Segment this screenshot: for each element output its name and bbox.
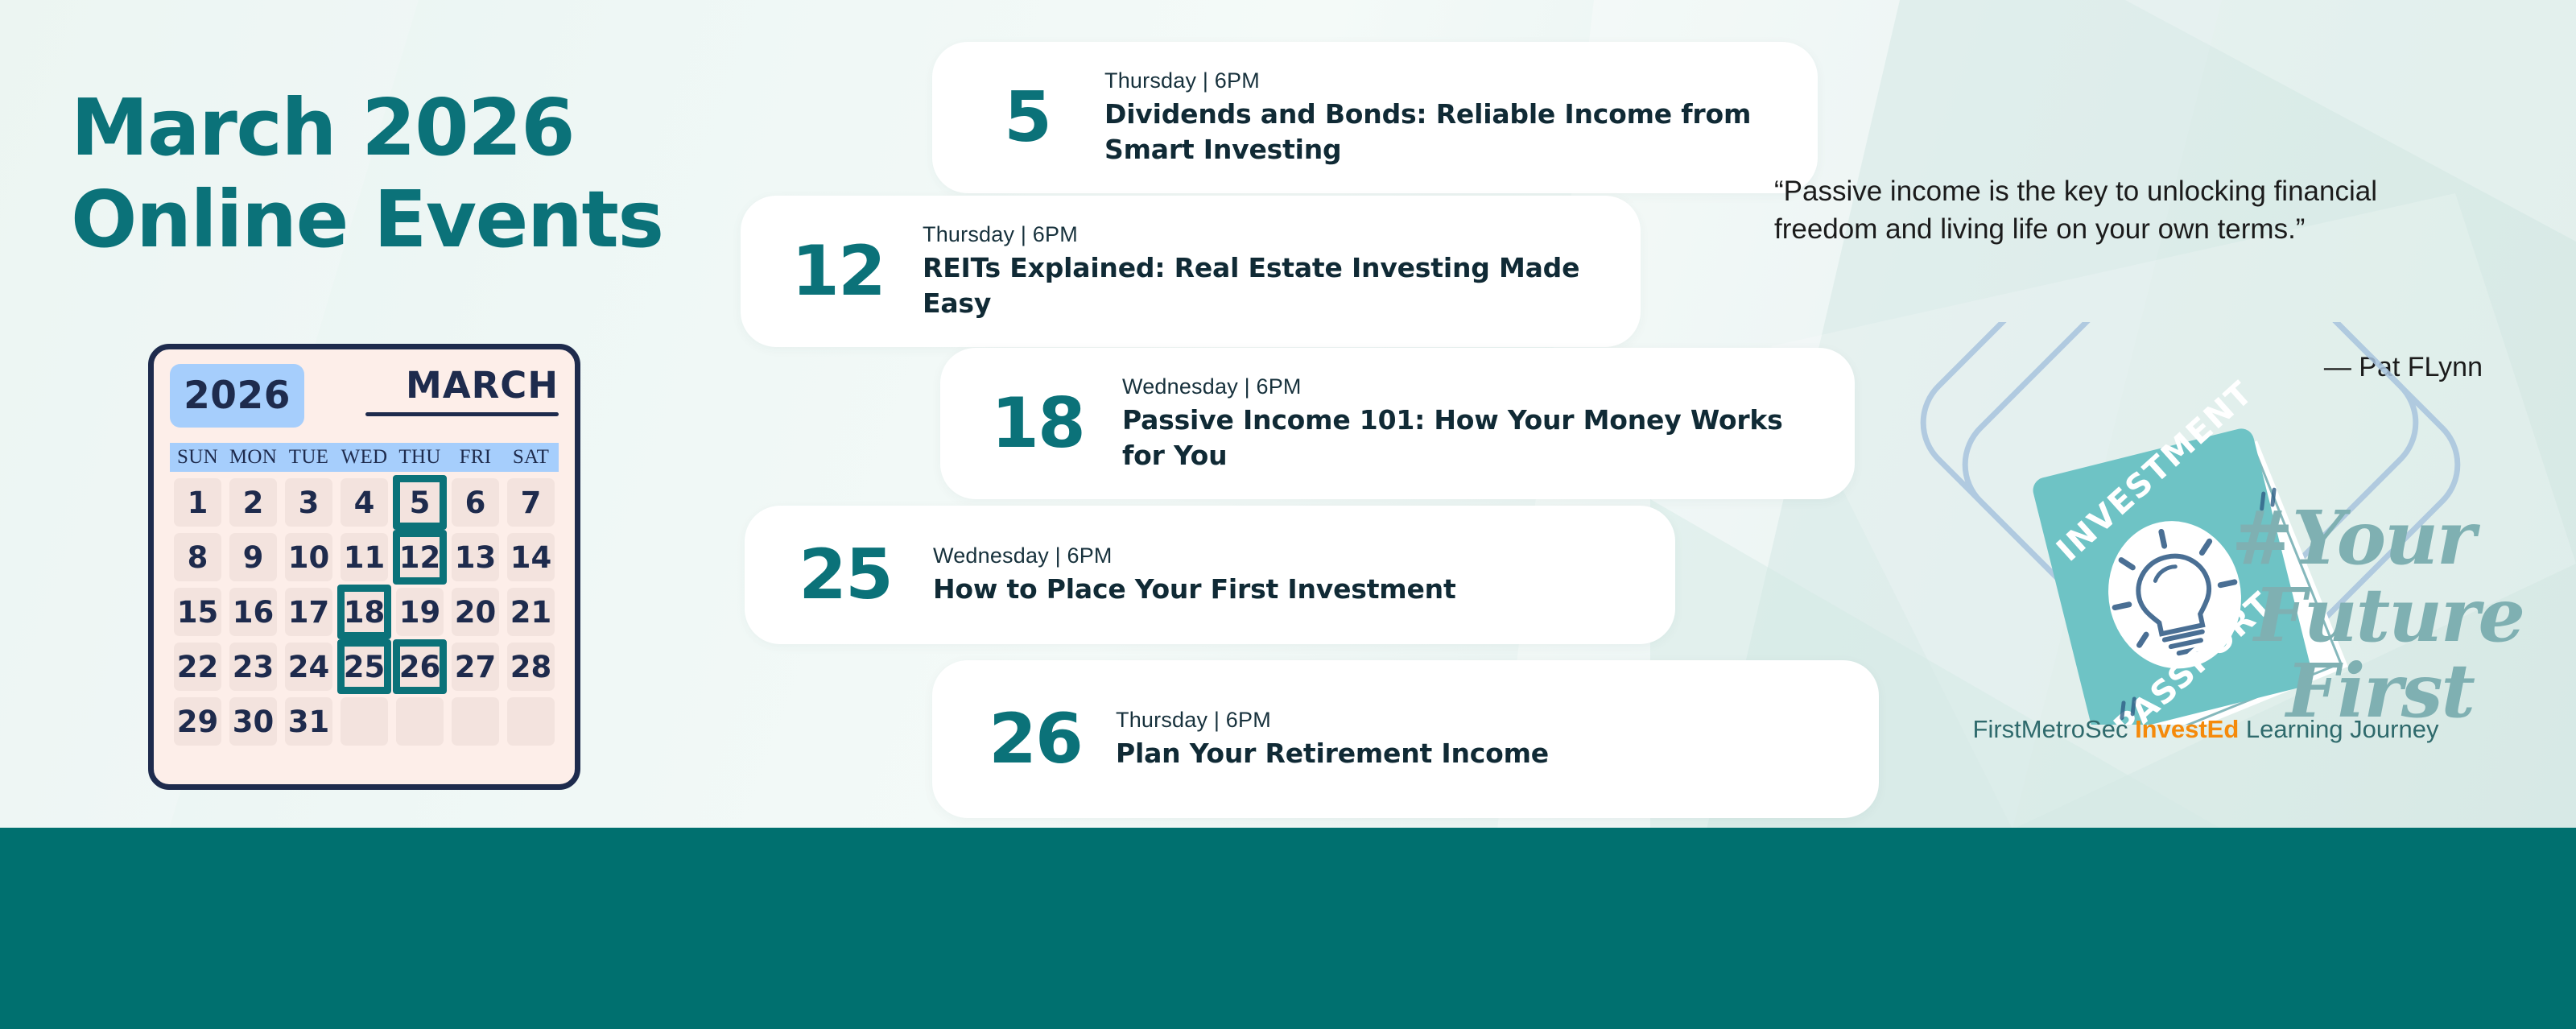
calendar-header: 2026 MARCH	[170, 364, 559, 433]
calendar-day-number: 16	[233, 595, 275, 630]
calendar-day-number: 23	[233, 650, 275, 684]
calendar-day-number: 9	[243, 540, 264, 575]
calendar-day-10[interactable]: 10	[281, 530, 336, 585]
calendar-weekday-thu: THU	[392, 446, 448, 469]
calendar-month-label: MARCH	[324, 367, 559, 403]
event-card-26[interactable]: 26Thursday | 6PMPlan Your Retirement Inc…	[932, 660, 1879, 818]
calendar-cell-empty	[336, 694, 392, 749]
calendar-day-number: 7	[521, 486, 542, 520]
page-title: March 2026 Online Events	[71, 82, 663, 267]
calendar-day-27[interactable]: 27	[448, 639, 503, 694]
calendar-day-number: 30	[233, 705, 275, 739]
calendar-cell-bg	[396, 697, 444, 746]
calendar-day-7[interactable]: 7	[503, 475, 559, 530]
calendar-day-19[interactable]: 19	[392, 585, 448, 639]
calendar-month-block: MARCH	[324, 364, 559, 416]
event-card-body: Wednesday | 6PMHow to Place Your First I…	[933, 543, 1643, 607]
event-card-body: Thursday | 6PMPlan Your Retirement Incom…	[1116, 708, 1847, 771]
calendar-day-number: 2	[243, 486, 264, 520]
calendar-day-4[interactable]: 4	[336, 475, 392, 530]
calendar-day-2[interactable]: 2	[225, 475, 281, 530]
calendar-cell-bg	[507, 697, 555, 746]
calendar-weekday-tue: TUE	[281, 446, 336, 469]
calendar-weekday-wed: WED	[336, 446, 392, 469]
event-title: Passive Income 101: How Your Money Works…	[1122, 403, 1823, 473]
event-card-5[interactable]: 5Thursday | 6PMDividends and Bonds: Reli…	[932, 42, 1818, 193]
svg-text:Future: Future	[2252, 572, 2524, 659]
calendar-cell-bg	[341, 697, 388, 746]
calendar-weekday-row: SUNMONTUEWEDTHUFRISAT	[170, 443, 559, 472]
event-card-25[interactable]: 25Wednesday | 6PMHow to Place Your First…	[745, 506, 1675, 644]
calendar-day-9[interactable]: 9	[225, 530, 281, 585]
calendar-day-26[interactable]: 26	[392, 639, 448, 694]
calendar-day-number: 14	[510, 540, 552, 575]
calendar-day-21[interactable]: 21	[503, 585, 559, 639]
event-card-18[interactable]: 18Wednesday | 6PMPassive Income 101: How…	[940, 348, 1855, 499]
calendar-month-rule	[365, 412, 559, 416]
svg-text:#Your: #Your	[2231, 494, 2481, 581]
calendar-day-number: 13	[455, 540, 497, 575]
svg-text:First: First	[2284, 647, 2475, 725]
calendar-day-24[interactable]: 24	[281, 639, 336, 694]
event-day-number: 18	[977, 389, 1098, 458]
calendar-day-30[interactable]: 30	[225, 694, 281, 749]
calendar-days-grid: 1234567891011121314151617181920212223242…	[170, 475, 559, 749]
calendar-day-number: 8	[188, 540, 208, 575]
calendar-day-13[interactable]: 13	[448, 530, 503, 585]
calendar-day-number: 18	[344, 595, 386, 630]
calendar-day-29[interactable]: 29	[170, 694, 225, 749]
calendar-cell-empty	[503, 694, 559, 749]
quote-text: “Passive income is the key to unlocking …	[1774, 173, 2483, 248]
calendar-day-11[interactable]: 11	[336, 530, 392, 585]
calendar-day-number: 31	[288, 705, 330, 739]
calendar-weekday-sun: SUN	[170, 446, 225, 469]
calendar-day-number: 24	[288, 650, 330, 684]
brand-footer-emphasis: InvestEd	[2135, 715, 2239, 743]
calendar-day-number: 12	[399, 540, 441, 575]
calendar-day-number: 3	[299, 486, 320, 520]
calendar-day-number: 28	[510, 650, 552, 684]
event-datetime: Thursday | 6PM	[1116, 708, 1847, 733]
event-day-number: 25	[782, 540, 909, 610]
calendar-day-number: 11	[344, 540, 386, 575]
event-title: Dividends and Bonds: Reliable Income fro…	[1104, 97, 1785, 167]
event-title: Plan Your Retirement Income	[1116, 736, 1847, 771]
calendar-day-3[interactable]: 3	[281, 475, 336, 530]
calendar-day-number: 21	[510, 595, 552, 630]
calendar-day-number: 26	[399, 650, 441, 684]
calendar-cell-bg	[452, 697, 499, 746]
calendar-day-number: 20	[455, 595, 497, 630]
calendar-day-12[interactable]: 12	[392, 530, 448, 585]
event-card-body: Thursday | 6PMREITs Explained: Real Esta…	[923, 222, 1608, 321]
event-card-body: Thursday | 6PMDividends and Bonds: Relia…	[1104, 68, 1785, 167]
calendar-day-number: 27	[455, 650, 497, 684]
calendar-weekday-fri: FRI	[448, 446, 503, 469]
calendar-day-14[interactable]: 14	[503, 530, 559, 585]
event-datetime: Wednesday | 6PM	[933, 543, 1643, 568]
calendar-day-6[interactable]: 6	[448, 475, 503, 530]
calendar-day-17[interactable]: 17	[281, 585, 336, 639]
event-datetime: Thursday | 6PM	[1104, 68, 1785, 93]
calendar-weekday-mon: MON	[225, 446, 281, 469]
calendar-year-badge: 2026	[170, 364, 304, 428]
event-day-number: 5	[974, 83, 1080, 152]
calendar-day-16[interactable]: 16	[225, 585, 281, 639]
brand-footer-prefix: FirstMetroSec	[1973, 715, 2136, 743]
calendar-day-18[interactable]: 18	[336, 585, 392, 639]
calendar-day-23[interactable]: 23	[225, 639, 281, 694]
calendar-day-number: 22	[177, 650, 219, 684]
calendar-day-28[interactable]: 28	[503, 639, 559, 694]
calendar-weekday-sat: SAT	[503, 446, 559, 469]
calendar-cell-empty	[392, 694, 448, 749]
calendar-day-22[interactable]: 22	[170, 639, 225, 694]
event-title: REITs Explained: Real Estate Investing M…	[923, 250, 1608, 321]
calendar-day-number: 4	[354, 486, 375, 520]
calendar-cell-empty	[448, 694, 503, 749]
event-title: How to Place Your First Investment	[933, 572, 1643, 607]
calendar-day-number: 25	[344, 650, 386, 684]
calendar-day-number: 5	[410, 486, 431, 520]
event-card-body: Wednesday | 6PMPassive Income 101: How Y…	[1122, 374, 1823, 473]
calendar-day-number: 10	[288, 540, 330, 575]
event-day-number: 12	[778, 237, 898, 306]
calendar-day-31[interactable]: 31	[281, 694, 336, 749]
calendar-day-15[interactable]: 15	[170, 585, 225, 639]
calendar-day-8[interactable]: 8	[170, 530, 225, 585]
calendar-day-number: 6	[465, 486, 486, 520]
calendar-day-5[interactable]: 5	[392, 475, 448, 530]
event-card-12[interactable]: 12Thursday | 6PMREITs Explained: Real Es…	[741, 196, 1641, 347]
event-datetime: Thursday | 6PM	[923, 222, 1608, 247]
event-day-number: 26	[979, 705, 1092, 774]
poster-canvas: March 2026 Online Events 2026 MARCH SUNM…	[0, 0, 2576, 1029]
calendar-day-number: 29	[177, 705, 219, 739]
calendar-day-number: 1	[188, 486, 208, 520]
calendar-day-number: 15	[177, 595, 219, 630]
calendar-day-25[interactable]: 25	[336, 639, 392, 694]
calendar-day-20[interactable]: 20	[448, 585, 503, 639]
calendar-day-number: 17	[288, 595, 330, 630]
footer-bar	[0, 828, 2576, 1029]
brand-footer-suffix: Learning Journey	[2239, 715, 2438, 743]
calendar-day-1[interactable]: 1	[170, 475, 225, 530]
brand-footer-line: FirstMetroSec InvestEd Learning Journey	[1851, 715, 2560, 744]
event-datetime: Wednesday | 6PM	[1122, 374, 1823, 399]
calendar-widget: 2026 MARCH SUNMONTUEWEDTHUFRISAT 1234567…	[148, 344, 580, 790]
calendar-day-number: 19	[399, 595, 441, 630]
brand-artwork: INVESTMENT PASSPORT #Your Future First	[1835, 322, 2576, 725]
